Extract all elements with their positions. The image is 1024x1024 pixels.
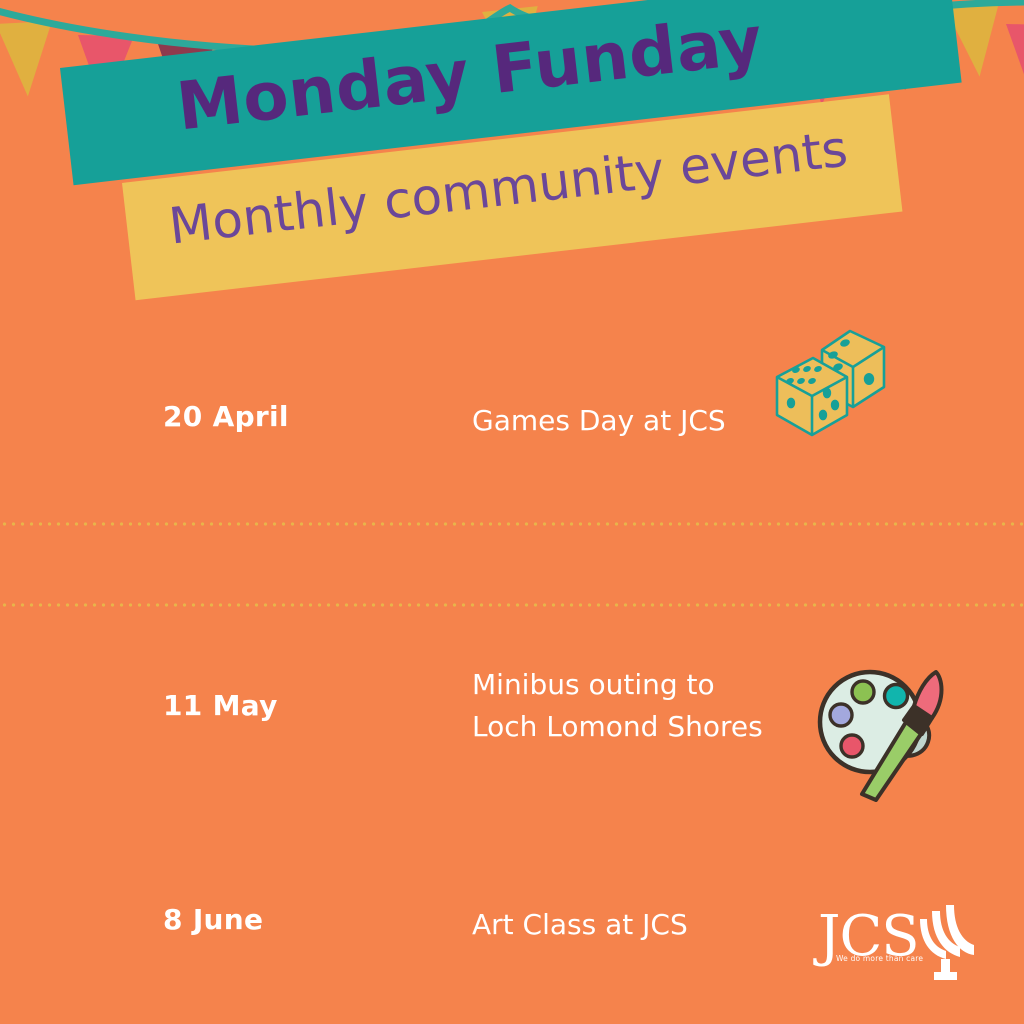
- event-description: Art Class at JCS: [472, 904, 688, 946]
- menorah-icon: [916, 903, 978, 983]
- poster-canvas: Monday Funday Monthly community events 2…: [0, 0, 1024, 1024]
- dotted-divider: [0, 522, 1024, 526]
- event-date: 8 June: [163, 903, 263, 936]
- list-item: 11 May Minibus outing to Loch Lomond Sho…: [0, 524, 1024, 605]
- jcs-logo: JCS We do more than care: [818, 905, 978, 985]
- event-date: 20 April: [163, 400, 289, 433]
- artist-palette-icon: [800, 650, 960, 805]
- event-description: Games Day at JCS: [472, 400, 726, 442]
- logo-tagline: We do more than care: [836, 954, 923, 963]
- dotted-divider: [0, 603, 1024, 607]
- dice-icon: [765, 325, 910, 440]
